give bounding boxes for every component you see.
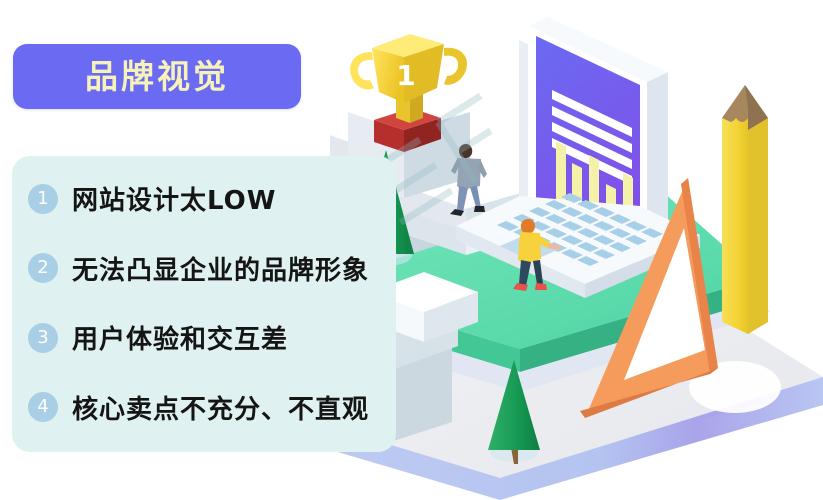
pencil xyxy=(722,85,768,334)
list-item-number-badge: 3 xyxy=(28,323,58,353)
list-item: 3 用户体验和交互差 xyxy=(12,309,452,367)
list-item-label: 网站设计太LOW xyxy=(72,180,276,217)
page-title: 品牌视觉 xyxy=(85,60,229,93)
poster-canvas: 1 xyxy=(0,0,823,500)
list-item: 1 网站设计太LOW xyxy=(12,170,452,228)
list-item-number-badge: 4 xyxy=(28,392,58,422)
title-badge: 品牌视觉 xyxy=(13,44,301,109)
list-item-number-badge: 2 xyxy=(28,253,58,283)
trophy-rank-number: 1 xyxy=(396,59,415,92)
pain-points-list: 1 网站设计太LOW 2 无法凸显企业的品牌形象 3 用户体验和交互差 4 核心… xyxy=(12,156,452,452)
list-item-label: 核心卖点不充分、不直观 xyxy=(72,389,369,426)
list-item: 2 无法凸显企业的品牌形象 xyxy=(12,239,452,297)
bar-1 xyxy=(556,141,566,204)
list-item-label: 用户体验和交互差 xyxy=(72,319,288,356)
list-item-number-badge: 1 xyxy=(28,184,58,214)
list-item: 4 核心卖点不充分、不直观 xyxy=(12,378,452,436)
list-item-label: 无法凸显企业的品牌形象 xyxy=(72,250,369,287)
